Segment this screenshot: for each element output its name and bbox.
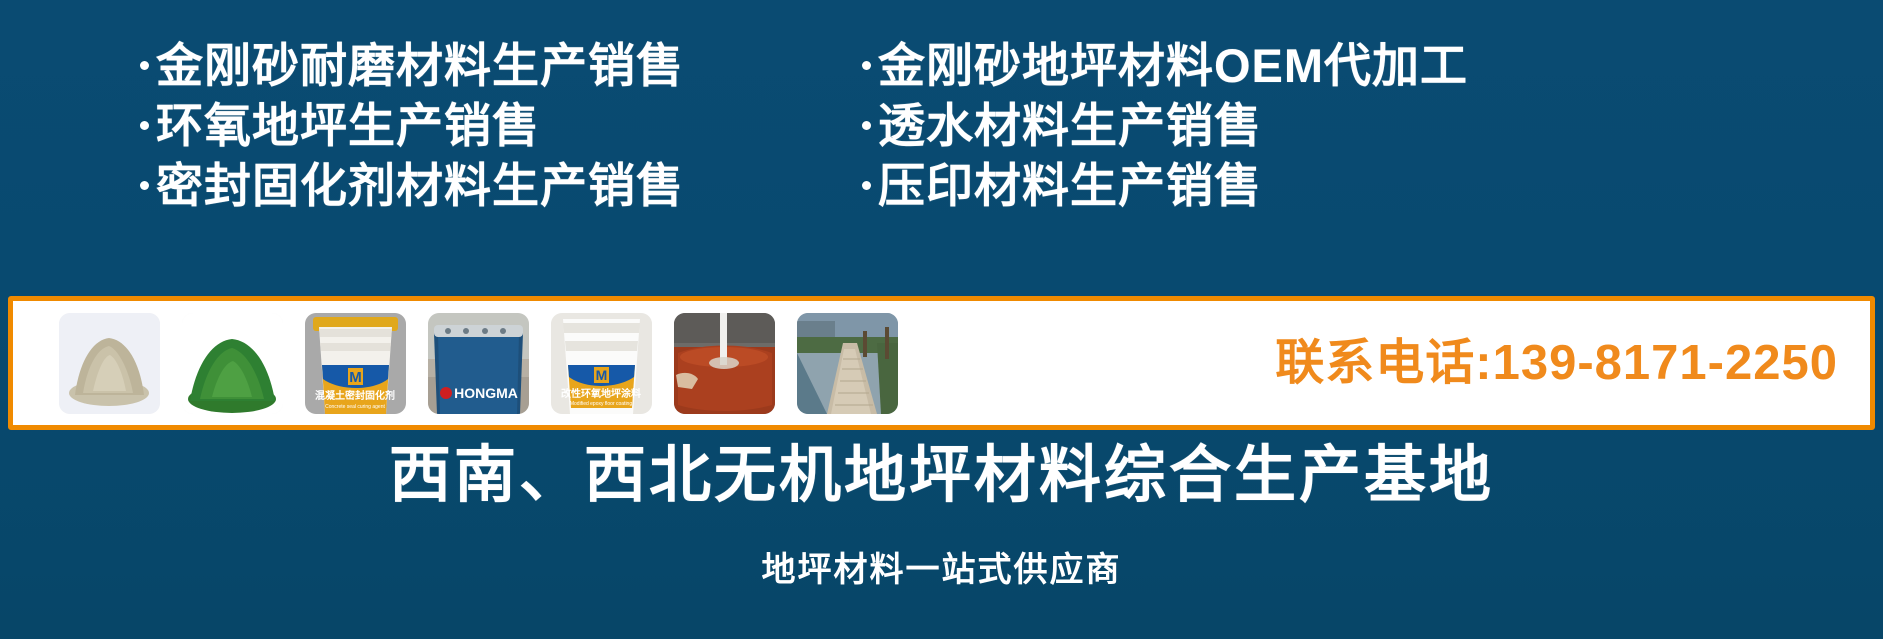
- service-item: 环氧地坪生产销售: [140, 98, 684, 154]
- green-powder-thumb: [182, 313, 283, 414]
- bullet-icon: [862, 181, 871, 190]
- sealer-pail-thumb: M 混凝土密封固化剂 Concrete seal curing agent: [305, 313, 406, 414]
- svg-text:混凝土密封固化剂: 混凝土密封固化剂: [315, 389, 395, 402]
- service-label: 金刚砂地坪材料OEM代加工: [878, 38, 1468, 94]
- services-right-column: 金刚砂地坪材料OEM代加工 透水材料生产销售 压印材料生产销售: [862, 38, 1468, 218]
- bullet-icon: [140, 61, 149, 70]
- service-item: 金刚砂地坪材料OEM代加工: [862, 38, 1468, 94]
- hongma-drum-thumb: HONGMA: [428, 313, 529, 414]
- services-list: 金刚砂耐磨材料生产销售 环氧地坪生产销售 密封固化剂材料生产销售 金刚砂地坪材料…: [0, 32, 1883, 237]
- svg-text:M: M: [596, 367, 608, 383]
- red-permeable-thumb: [674, 313, 775, 414]
- bullet-icon: [140, 181, 149, 190]
- svg-text:M: M: [349, 369, 362, 386]
- svg-text:改性环氧地坪涂料: 改性环氧地坪涂料: [561, 387, 641, 400]
- footer-subhead: 地坪材料一站式供应商: [0, 549, 1883, 591]
- service-label: 压印材料生产销售: [878, 158, 1262, 214]
- promotional-banner: 金刚砂耐磨材料生产销售 环氧地坪生产销售 密封固化剂材料生产销售 金刚砂地坪材料…: [0, 0, 1883, 639]
- bullet-icon: [140, 121, 149, 130]
- svg-text:Concrete seal curing agent: Concrete seal curing agent: [325, 404, 385, 410]
- grey-powder-thumb: [59, 313, 160, 414]
- service-item: 透水材料生产销售: [862, 98, 1468, 154]
- service-label: 金刚砂耐磨材料生产销售: [156, 38, 684, 94]
- svg-text:Modified epoxy floor coating: Modified epoxy floor coating: [570, 401, 632, 407]
- service-label: 密封固化剂材料生产销售: [156, 158, 684, 214]
- footer-headline: 西南、西北无机地坪材料综合生产基地: [0, 440, 1883, 512]
- bullet-icon: [862, 61, 871, 70]
- service-label: 环氧地坪生产销售: [156, 98, 540, 154]
- bullet-icon: [862, 121, 871, 130]
- service-item: 金刚砂耐磨材料生产销售: [140, 38, 684, 94]
- service-item: 压印材料生产销售: [862, 158, 1468, 214]
- contact-phone[interactable]: 联系电话:139-8171-2250: [1275, 337, 1838, 389]
- product-thumbnail-row: M 混凝土密封固化剂 Concrete seal curing agent: [59, 313, 898, 414]
- svg-text:HONGMA: HONGMA: [454, 385, 518, 401]
- service-item: 密封固化剂材料生产销售: [140, 158, 684, 214]
- stamped-path-thumb: [797, 313, 898, 414]
- product-strip: M 混凝土密封固化剂 Concrete seal curing agent: [8, 296, 1875, 430]
- service-label: 透水材料生产销售: [878, 98, 1262, 154]
- epoxy-pail-thumb: M 改性环氧地坪涂料 Modified epoxy floor coating: [551, 313, 652, 414]
- services-left-column: 金刚砂耐磨材料生产销售 环氧地坪生产销售 密封固化剂材料生产销售: [140, 38, 684, 218]
